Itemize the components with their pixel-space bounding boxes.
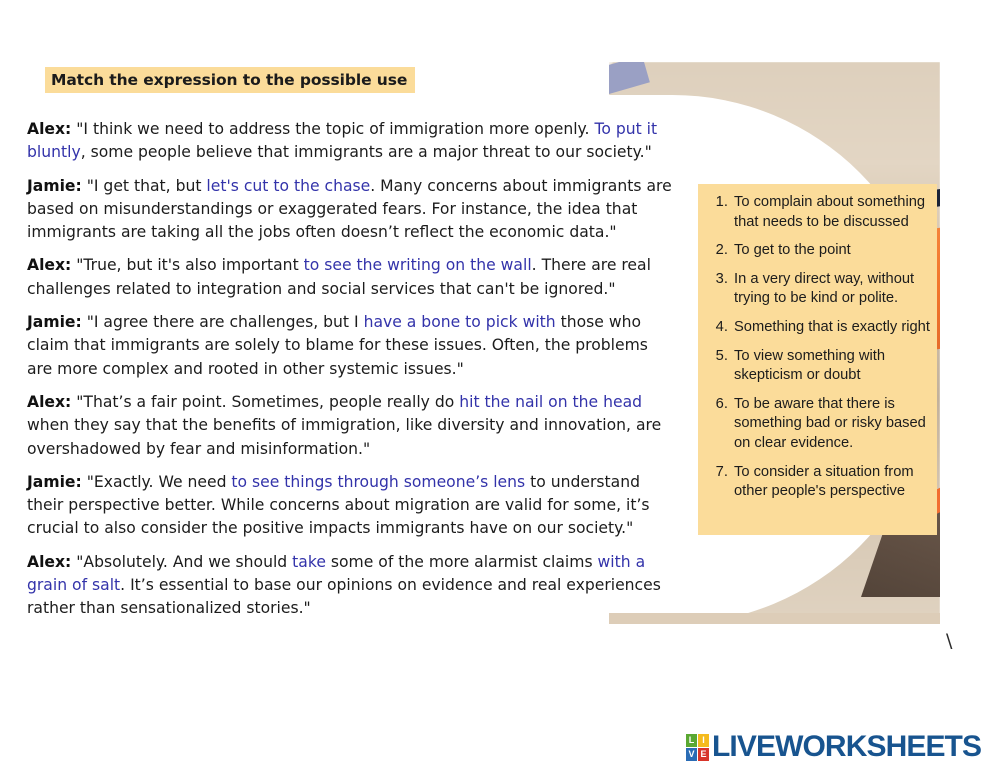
answer-option-item[interactable]: To view something with skepticism or dou…: [732, 347, 931, 386]
answer-option-item[interactable]: To consider a situation from other peopl…: [732, 463, 931, 502]
dialogue-text: "Exactly. We need: [82, 473, 232, 491]
dialogue-text: "That’s a fair point. Sometimes, people …: [71, 393, 459, 411]
dialogue-turn: Alex: "I think we need to address the to…: [27, 118, 675, 165]
answer-option-item[interactable]: To complain about something that needs t…: [732, 193, 931, 232]
answer-options-list: To complain about something that needs t…: [706, 193, 935, 502]
dialogue-text: when they say that the benefits of immig…: [27, 416, 661, 457]
idiom-phrase[interactable]: hit the nail on the head: [459, 393, 642, 411]
dialogue-turn: Alex: "Absolutely. And we should take so…: [27, 551, 675, 621]
dialogue-speaker: Jamie:: [27, 177, 82, 195]
idiom-phrase[interactable]: to see the writing on the wall: [304, 256, 532, 274]
logo-tile-i: I: [698, 734, 709, 747]
answer-option-item[interactable]: In a very direct way, without trying to …: [732, 270, 931, 309]
dialogue-text: . It’s essential to base our opinions on…: [27, 576, 661, 617]
dialogue-speaker: Alex:: [27, 393, 71, 411]
idiom-phrase[interactable]: to see things through someone’s lens: [231, 473, 525, 491]
dialogue-text: some of the more alarmist claims: [326, 553, 598, 571]
dialogue-text: "I get that, but: [82, 177, 207, 195]
logo-tiles: L I V E: [686, 734, 709, 761]
dialogue-text: "I agree there are challenges, but I: [82, 313, 364, 331]
dialogue-speaker: Jamie:: [27, 313, 82, 331]
dialogue-speaker: Alex:: [27, 256, 71, 274]
dialogue-container: Alex: "I think we need to address the to…: [27, 118, 675, 631]
answer-option-item[interactable]: To be aware that there is something bad …: [732, 395, 931, 454]
answer-option-item[interactable]: To get to the point: [732, 241, 931, 261]
dialogue-speaker: Jamie:: [27, 473, 82, 491]
dialogue-text: , some people believe that immigrants ar…: [81, 143, 652, 161]
dialogue-text: "Absolutely. And we should: [71, 553, 292, 571]
dialogue-text: "True, but it's also important: [71, 256, 303, 274]
dialogue-turn: Alex: "That’s a fair point. Sometimes, p…: [27, 391, 675, 461]
worksheet-page: Match the expression to the possible use…: [0, 0, 999, 772]
dialogue-turn: Jamie: "I agree there are challenges, bu…: [27, 311, 675, 381]
dialogue-speaker: Alex:: [27, 120, 71, 138]
dialogue-text: "I think we need to address the topic of…: [71, 120, 594, 138]
page-title: Match the expression to the possible use: [51, 71, 407, 89]
stray-backslash-mark: \: [946, 630, 952, 652]
answer-options-panel: To complain about something that needs t…: [698, 184, 937, 535]
dialogue-turn: Jamie: "Exactly. We need to see things t…: [27, 471, 675, 541]
idiom-phrase[interactable]: have a bone to pick with: [364, 313, 556, 331]
dialogue-turn: Alex: "True, but it's also important to …: [27, 254, 675, 301]
logo-tile-e: E: [698, 748, 709, 761]
idiom-phrase[interactable]: take: [292, 553, 326, 571]
page-title-highlight: Match the expression to the possible use: [45, 67, 415, 93]
idiom-phrase[interactable]: let's cut to the chase: [206, 177, 370, 195]
dialogue-turn: Jamie: "I get that, but let's cut to the…: [27, 175, 675, 245]
logo-tile-v: V: [686, 748, 697, 761]
dialogue-speaker: Alex:: [27, 553, 71, 571]
logo-wordmark: LIVEWORKSHEETS: [712, 732, 981, 762]
logo-tile-l: L: [686, 734, 697, 747]
liveworksheets-logo: L I V E LIVEWORKSHEETS: [686, 728, 981, 766]
answer-option-item[interactable]: Something that is exactly right: [732, 318, 931, 338]
